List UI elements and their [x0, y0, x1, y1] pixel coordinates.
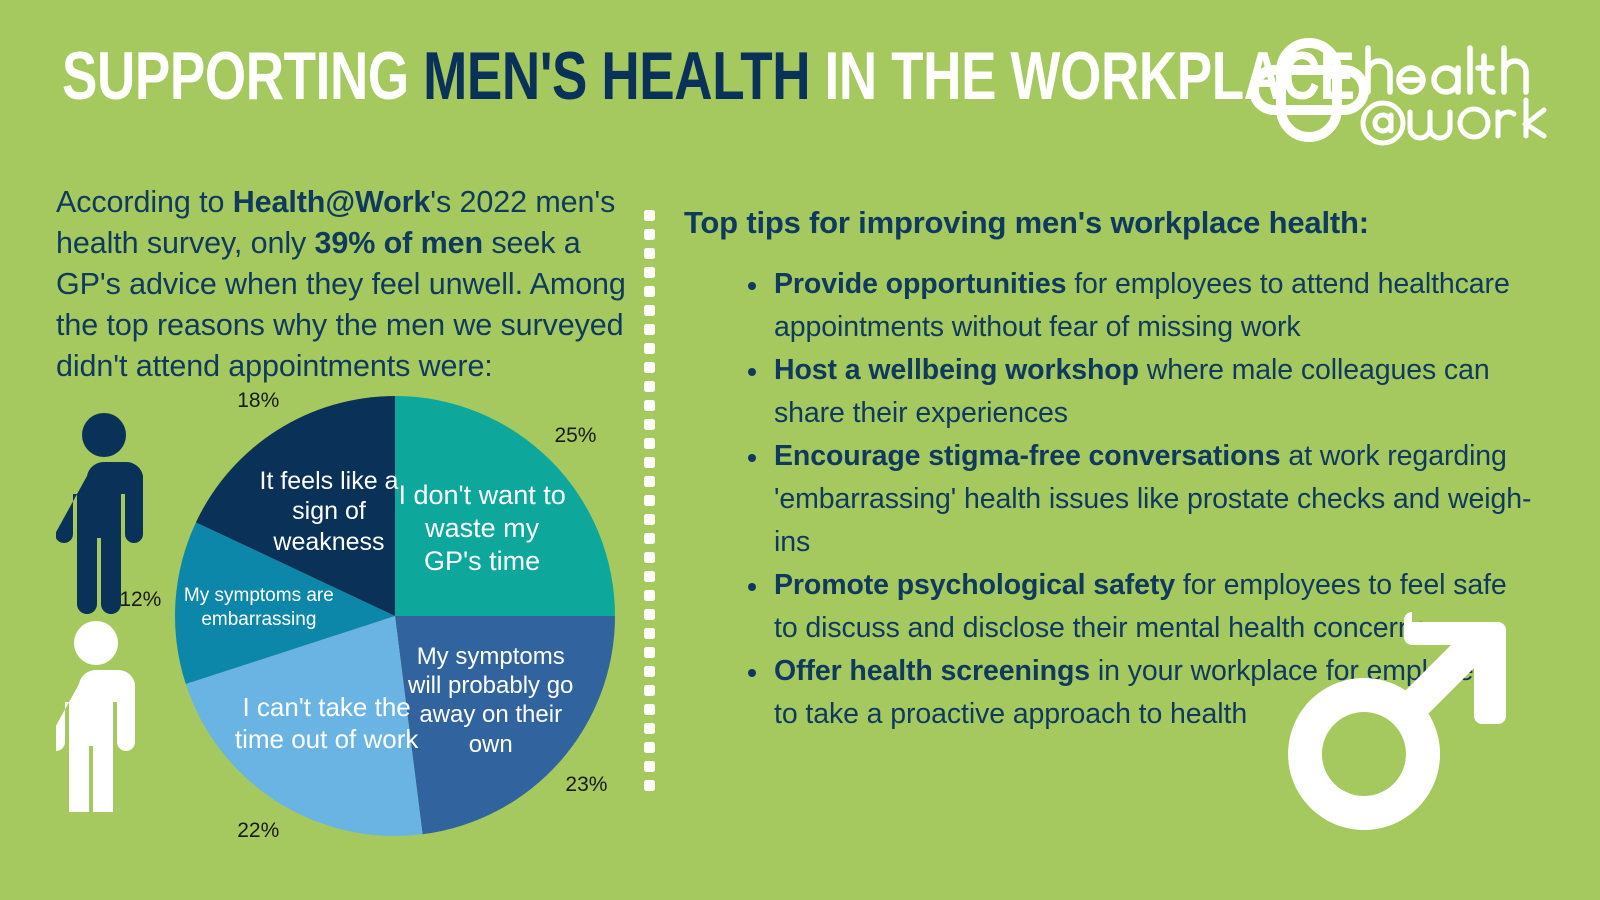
divider-dot [644, 552, 655, 563]
intro-bold-stat: 39% of men [315, 226, 484, 260]
mars-male-symbol-icon [1276, 612, 1516, 852]
divider-dot [644, 723, 655, 734]
dotted-divider [644, 210, 656, 798]
title-highlight: MEN'S HEALTH [423, 38, 810, 114]
divider-dot [644, 229, 655, 240]
tip-item: Provide opportunities for employees to a… [742, 263, 1532, 349]
divider-dot [644, 343, 655, 354]
intro-text-1: According to [56, 185, 233, 219]
divider-dot [644, 647, 655, 658]
tip-item-bold: Host a wellbeing workshop [774, 354, 1139, 386]
divider-dot [644, 210, 655, 221]
divider-dot [644, 400, 655, 411]
divider-dot [644, 457, 655, 468]
divider-dot [644, 685, 655, 696]
divider-dot [644, 438, 655, 449]
divider-dot [644, 381, 655, 392]
divider-dot [644, 514, 655, 525]
tip-item: Host a wellbeing workshop where male col… [742, 349, 1532, 435]
pie-percent-label: 18% [237, 389, 279, 413]
tip-item: Encourage stigma-free conversations at w… [742, 435, 1532, 564]
divider-dot [644, 628, 655, 639]
title-part-1: SUPPORTING [62, 38, 423, 114]
pie-slice [395, 616, 615, 834]
intro-paragraph: According to Health@Work's 2022 men's he… [56, 182, 628, 387]
pie-chart-svg [175, 396, 615, 836]
divider-dot [644, 704, 655, 715]
divider-dot [644, 666, 655, 677]
divider-dot [644, 742, 655, 753]
divider-dot [644, 267, 655, 278]
pie-percent-label: 12% [119, 588, 161, 612]
divider-dot [644, 362, 655, 373]
divider-dot [644, 476, 655, 487]
pie-percent-label: 23% [565, 773, 607, 797]
divider-dot [644, 609, 655, 620]
divider-dot [644, 780, 655, 791]
cross-icon [1254, 43, 1364, 137]
divider-dot [644, 248, 655, 259]
pie-slice-group [175, 396, 615, 836]
logo-text-atwork [1363, 100, 1544, 143]
tip-item-bold: Promote psychological safety [774, 569, 1175, 601]
divider-dot [644, 305, 655, 316]
pie-percent-label: 25% [554, 424, 596, 448]
page-title: SUPPORTING MEN'S HEALTH IN THE WORKPLACE [62, 42, 1355, 110]
divider-dot [644, 495, 655, 506]
tips-heading: Top tips for improving men's workplace h… [684, 205, 1514, 241]
tip-item-bold: Provide opportunities [774, 268, 1066, 300]
divider-dot [644, 590, 655, 601]
infographic-canvas: SUPPORTING MEN'S HEALTH IN THE WORKPLACE [0, 0, 1600, 900]
person-icon-group [56, 412, 166, 812]
logo-text-health [1368, 48, 1526, 92]
pie-percent-label: 22% [237, 819, 279, 843]
health-at-work-logo [1218, 30, 1548, 150]
tip-item-bold: Encourage stigma-free conversations [774, 440, 1281, 472]
intro-bold-brand: Health@Work [233, 185, 431, 219]
divider-dot [644, 761, 655, 772]
divider-dot [644, 571, 655, 582]
person-icon-white [56, 621, 135, 812]
divider-dot [644, 419, 655, 430]
divider-dot [644, 324, 655, 335]
divider-dot [644, 533, 655, 544]
tip-item-bold: Offer health screenings [774, 655, 1090, 687]
person-icon-navy [56, 413, 143, 614]
divider-dot [644, 286, 655, 297]
pie-chart: I don't want to waste my GP's timeMy sym… [175, 396, 615, 836]
